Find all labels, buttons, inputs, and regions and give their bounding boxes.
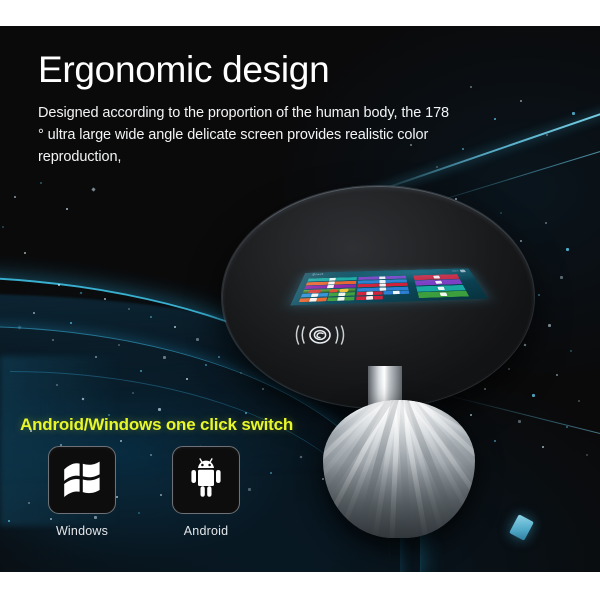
particle-dot [545, 222, 547, 224]
messaging-icon [379, 280, 385, 283]
start-tile[interactable] [356, 296, 383, 300]
particle-dot [8, 520, 10, 522]
particle-dot [520, 240, 522, 242]
os-options-row: Windows [46, 446, 242, 538]
os-option-windows[interactable]: Windows [46, 446, 118, 538]
start-tile[interactable] [299, 298, 327, 302]
os-option-android[interactable]: Android [170, 446, 242, 538]
particle-dot [56, 384, 58, 386]
particle-dot [163, 356, 166, 359]
android-tile[interactable] [172, 446, 240, 514]
particle-dot [500, 212, 502, 214]
particle-dot [520, 100, 522, 102]
headline-block: Ergonomic design Designed according to t… [38, 48, 458, 168]
maps-icon [393, 291, 400, 295]
particle-dot [484, 388, 486, 390]
particle-dot [546, 134, 548, 136]
particle-dot [174, 326, 176, 328]
particle-dot [300, 456, 303, 459]
particle-dot [542, 446, 544, 448]
base-shading [323, 400, 475, 538]
particle-dot [548, 324, 551, 327]
particle-dot [532, 394, 535, 397]
table-base [323, 400, 475, 538]
weather-icon [311, 294, 319, 298]
particle-dot [518, 420, 521, 423]
start-screen-title: Start [311, 273, 323, 276]
page-subcopy: Designed according to the proportion of … [38, 102, 458, 168]
particle-dot [70, 322, 72, 324]
video-library-icon [433, 276, 440, 279]
particle-dot [270, 472, 272, 474]
particle-dot [40, 182, 42, 184]
particle-dot [95, 356, 97, 358]
music-icon [379, 283, 385, 286]
windows-logo-icon [62, 459, 102, 502]
skype-icon [309, 298, 317, 302]
particle-dot [462, 148, 464, 150]
nfc-wireless-icon [294, 322, 346, 348]
particle-dot [104, 298, 106, 300]
particle-dot [248, 488, 251, 491]
store-icon [327, 285, 334, 288]
particle-dot [245, 412, 247, 414]
mail-icon [329, 278, 336, 281]
particle-dot [524, 344, 527, 347]
particle-dot [494, 118, 496, 120]
particle-dot [262, 388, 264, 390]
start-tile[interactable] [384, 291, 410, 295]
particle-dot [128, 308, 130, 310]
particle-dot [120, 440, 122, 442]
particle-dot [186, 378, 188, 380]
user-account-area[interactable]: user [451, 269, 466, 272]
camera-icon [379, 287, 386, 290]
particle-dot [118, 344, 120, 346]
particle-dot [24, 252, 26, 254]
sport-icon [439, 293, 447, 297]
particle-dot [205, 364, 207, 366]
particle-dot [17, 325, 21, 329]
product-hero-banner: Start user [0, 26, 600, 572]
cyan-diamond-accent [509, 514, 534, 541]
games-icon [337, 297, 345, 301]
particle-dot [91, 187, 95, 191]
particle-dot [494, 440, 496, 442]
particle-dot [556, 374, 558, 376]
particle-dot [58, 284, 60, 286]
particle-dot [566, 248, 569, 251]
particle-dot [2, 226, 4, 228]
tile-group-a [299, 276, 410, 302]
particle-dot [80, 292, 83, 295]
particle-dot [132, 392, 134, 394]
calendar-icon [379, 276, 385, 279]
news-icon [366, 292, 373, 296]
tile-area [299, 274, 481, 302]
windows-tile[interactable] [48, 446, 116, 514]
particle-dot [572, 112, 575, 115]
start-tile[interactable] [418, 291, 469, 298]
particle-dot [140, 370, 142, 372]
particle-dot [14, 196, 16, 198]
os-option-label: Android [184, 524, 229, 538]
particle-dot [66, 208, 68, 210]
os-switch-title: Android/Windows one click switch [20, 415, 293, 435]
android-robot-icon [186, 457, 226, 504]
avatar[interactable] [459, 269, 465, 272]
particle-dot [586, 454, 588, 456]
particle-dot [52, 339, 54, 341]
particle-dot [28, 502, 30, 504]
people-icon [328, 281, 335, 284]
promo-banner-page: Start user [0, 0, 600, 600]
particle-dot [470, 86, 472, 88]
particle-dot [240, 372, 242, 374]
calendar-date-icon [435, 281, 442, 284]
particle-dot [33, 312, 35, 314]
particle-dot [560, 276, 563, 279]
particle-dot [158, 408, 161, 411]
particle-dot [578, 400, 580, 402]
desktop-icon [437, 287, 445, 290]
particle-dot [538, 294, 540, 296]
particle-dot [82, 398, 85, 401]
os-option-label: Windows [56, 524, 108, 538]
tile-group-b [413, 274, 469, 298]
particle-dot [508, 368, 510, 370]
start-tile[interactable] [328, 297, 355, 301]
particle-dot [566, 426, 568, 428]
account-name-label: user [451, 270, 459, 272]
particle-dot [150, 316, 152, 318]
finance-icon [338, 293, 345, 297]
particle-dot [196, 338, 199, 341]
particle-dot [218, 356, 220, 358]
video-icon [366, 296, 373, 300]
page-title: Ergonomic design [38, 48, 458, 92]
particle-dot [570, 350, 572, 352]
